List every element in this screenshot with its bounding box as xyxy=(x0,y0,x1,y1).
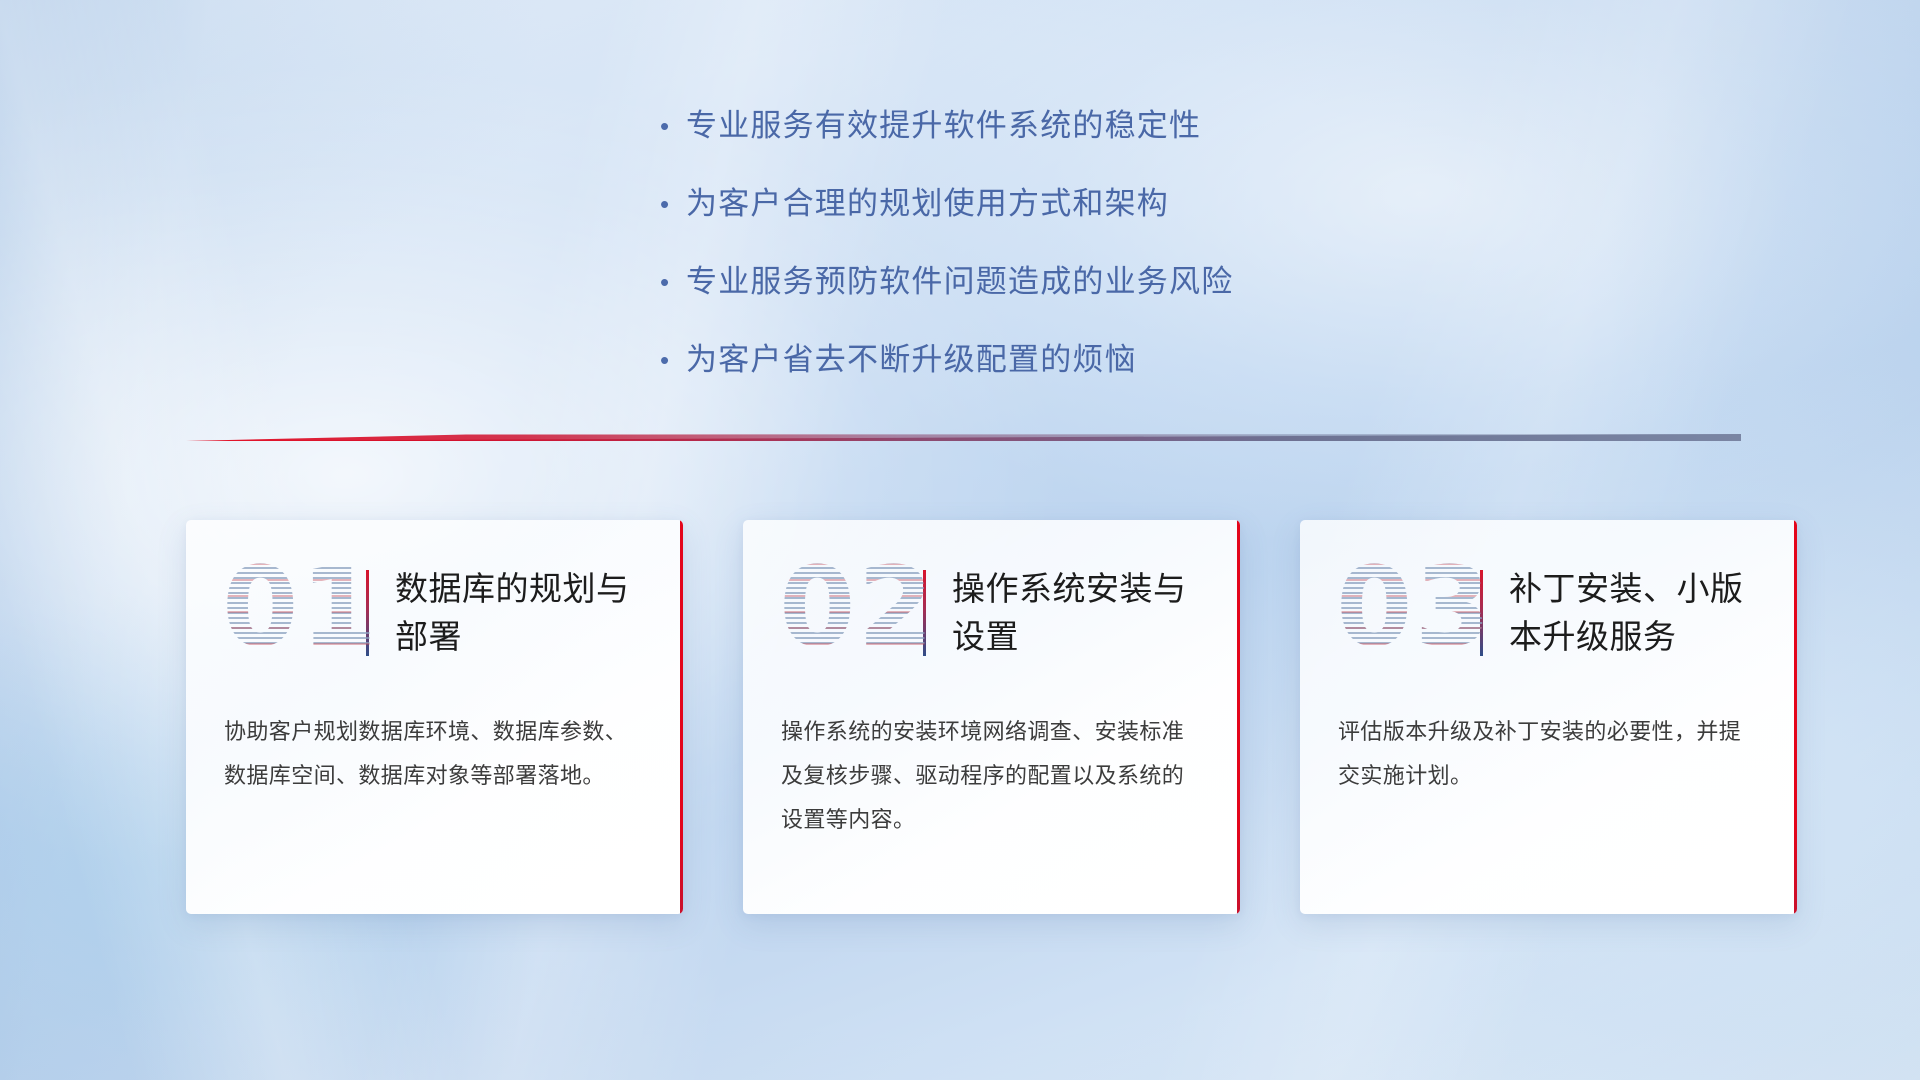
service-card-row: 01 01 数据库的规划与部署 协助客户规划数据库环境、数据库参数、数据库空间、… xyxy=(186,520,1797,914)
service-card-01[interactable]: 01 01 数据库的规划与部署 协助客户规划数据库环境、数据库参数、数据库空间、… xyxy=(186,520,683,914)
service-card-03[interactable]: 03 03 补丁安装、小版本升级服务 评估版本升级及补丁安装的必要性，并提交实施… xyxy=(1300,520,1797,914)
card-body-text: 评估版本升级及补丁安装的必要性，并提交实施计划。 xyxy=(1300,710,1797,798)
card-title: 操作系统安装与设置 xyxy=(952,565,1202,661)
card-number-glyph-tint: 01 xyxy=(222,547,379,667)
card-body-text: 操作系统的安装环境网络调查、安装标准及复核步骤、驱动程序的配置以及系统的设置等内… xyxy=(743,710,1240,842)
bullet-text: 专业服务有效提升软件系统的稳定性 xyxy=(686,104,1201,148)
list-item: • 专业服务有效提升软件系统的稳定性 xyxy=(660,104,1420,150)
list-item: • 为客户合理的规划使用方式和架构 xyxy=(660,182,1420,228)
card-number-watermark: 02 02 xyxy=(779,553,919,673)
card-body-text: 协助客户规划数据库环境、数据库参数、数据库空间、数据库对象等部署落地。 xyxy=(186,710,683,798)
card-number-glyph-tint: 03 xyxy=(1336,547,1493,667)
card-header: 03 03 补丁安装、小版本升级服务 xyxy=(1300,520,1797,706)
bullet-text: 专业服务预防软件问题造成的业务风险 xyxy=(686,260,1233,304)
card-title: 数据库的规划与部署 xyxy=(395,565,645,661)
bullet-dot-icon: • xyxy=(660,104,686,148)
benefits-bullet-list: • 专业服务有效提升软件系统的稳定性 • 为客户合理的规划使用方式和架构 • 专… xyxy=(660,104,1420,416)
card-number-watermark: 01 01 xyxy=(222,553,362,673)
bullet-text: 为客户合理的规划使用方式和架构 xyxy=(686,182,1169,226)
section-divider xyxy=(186,430,1741,446)
card-number-glyph-tint: 02 xyxy=(779,547,936,667)
card-number-watermark: 03 03 xyxy=(1336,553,1476,673)
card-title: 补丁安装、小版本升级服务 xyxy=(1509,565,1759,661)
list-item: • 专业服务预防软件问题造成的业务风险 xyxy=(660,260,1420,306)
bullet-dot-icon: • xyxy=(660,260,686,304)
divider-taper-highlight xyxy=(186,434,1741,441)
card-header: 01 01 数据库的规划与部署 xyxy=(186,520,683,706)
bullet-dot-icon: • xyxy=(660,182,686,226)
bullet-dot-icon: • xyxy=(660,338,686,382)
service-card-02[interactable]: 02 02 操作系统安装与设置 操作系统的安装环境网络调查、安装标准及复核步骤、… xyxy=(743,520,1240,914)
bullet-text: 为客户省去不断升级配置的烦恼 xyxy=(686,338,1137,382)
list-item: • 为客户省去不断升级配置的烦恼 xyxy=(660,338,1420,384)
card-header: 02 02 操作系统安装与设置 xyxy=(743,520,1240,706)
